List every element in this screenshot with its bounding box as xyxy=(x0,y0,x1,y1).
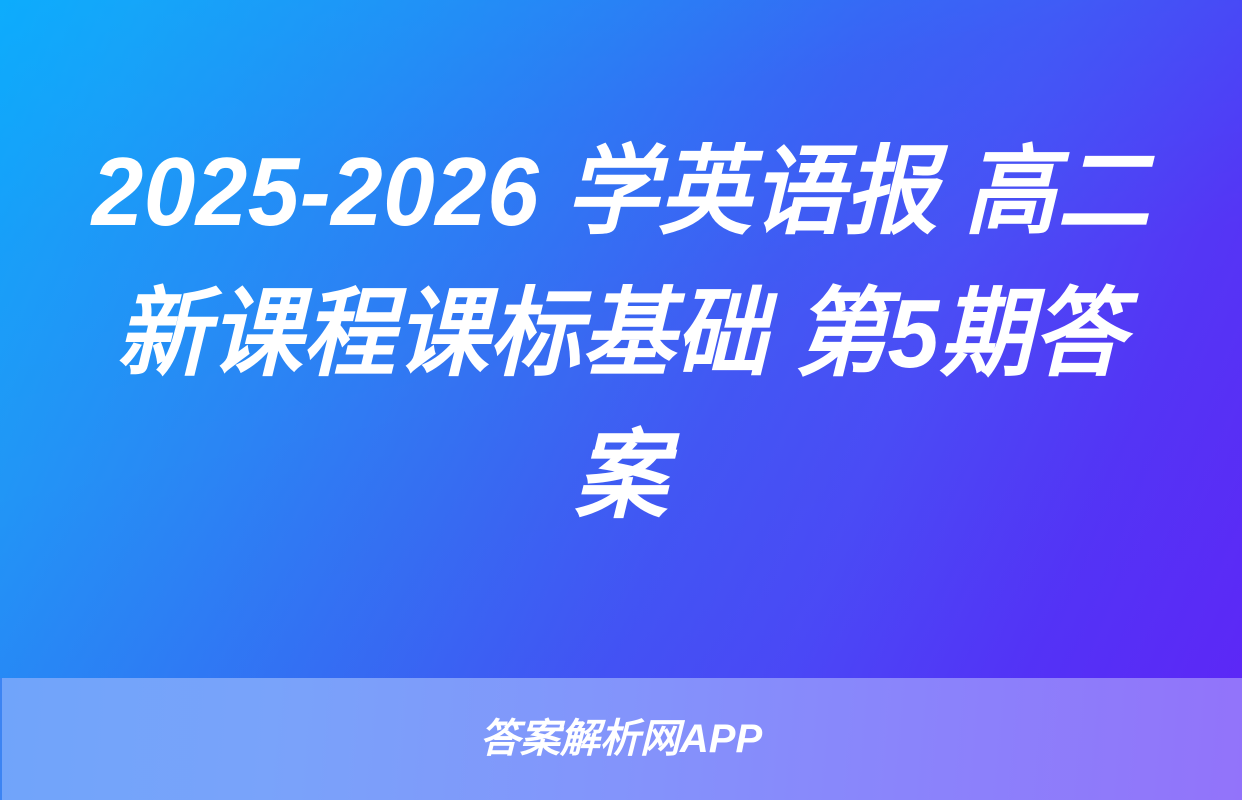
footer-brand-bar: 答案解析网APP xyxy=(0,678,1242,800)
hero-gradient-panel: 2025-2026 学英语报 高二 新课程课标基础 第5期答案 xyxy=(0,0,1242,678)
answer-poster-card: 2025-2026 学英语报 高二 新课程课标基础 第5期答案 答案解析网APP xyxy=(0,0,1242,800)
footer-left-edge-accent xyxy=(0,678,2,800)
brand-label: 答案解析网APP xyxy=(480,717,762,761)
poster-title: 2025-2026 学英语报 高二 新课程课标基础 第5期答案 xyxy=(70,121,1172,547)
title-container: 2025-2026 学英语报 高二 新课程课标基础 第5期答案 xyxy=(0,0,1242,678)
